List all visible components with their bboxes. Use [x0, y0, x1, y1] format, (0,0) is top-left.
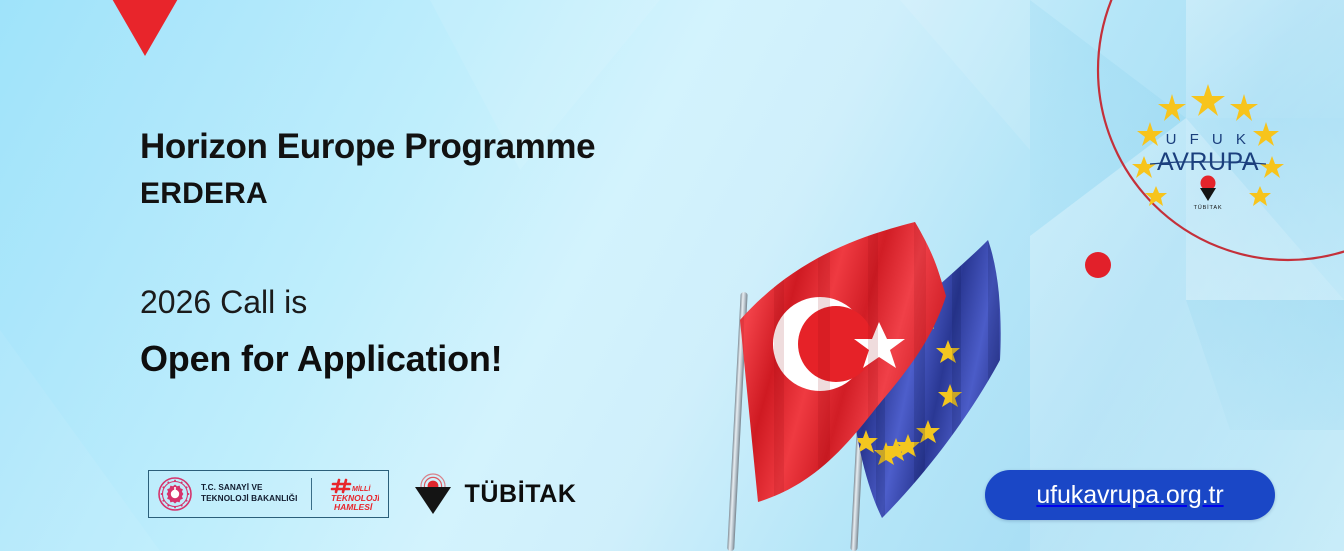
ministry-logo-box: T.C. SANAYİ VE TEKNOLOJİ BAKANLIĞI MİLLİ…: [148, 470, 389, 518]
milli-teknoloji-hamlesi-logo: MİLLİ TEKNOLOJİ HAMLESİ: [329, 476, 379, 512]
tubitak-logo-group: TÜBİTAK: [411, 473, 577, 515]
tubitak-mark-icon: [411, 473, 455, 515]
headline-block: Horizon Europe Programme ERDERA: [140, 126, 760, 213]
page-title: Horizon Europe Programme: [140, 126, 760, 169]
logo-divider: [311, 478, 312, 510]
website-url-label: ufukavrupa.org.tr: [1036, 481, 1223, 510]
ufuk-tubitak-mark-icon: TÜBİTAK: [1194, 176, 1223, 211]
horizon-europe-erdera-banner: Horizon Europe Programme ERDERA 2026 Cal…: [0, 0, 1344, 551]
ministry-label-line1: T.C. SANAYİ VE: [201, 483, 263, 492]
ufuk-wordmark: U F U K: [1166, 131, 1251, 148]
milli-line1: MİLLİ: [352, 485, 371, 493]
red-dot-marker: [1085, 252, 1111, 278]
call-block: 2026 Call is Open for Application!: [140, 283, 760, 381]
footer-logo-row: T.C. SANAYİ VE TEKNOLOJİ BAKANLIĞI MİLLİ…: [148, 470, 577, 518]
ministry-label: T.C. SANAYİ VE TEKNOLOJİ BAKANLIĞI: [201, 483, 298, 505]
call-year-label: 2026 Call is: [140, 283, 760, 321]
milli-line3: HAMLESİ: [334, 502, 373, 512]
project-name: ERDERA: [140, 174, 760, 213]
red-triangle-decoration: [100, 0, 190, 56]
gear-emblem-icon: [158, 477, 192, 511]
website-url-button[interactable]: ufukavrupa.org.tr: [985, 470, 1275, 520]
ufuk-tubitak-label: TÜBİTAK: [1194, 204, 1223, 210]
tubitak-wordmark: TÜBİTAK: [465, 480, 577, 509]
ministry-label-line2: TEKNOLOJİ BAKANLIĞI: [201, 494, 298, 503]
ufuk-avrupa-logo: U F U K AVRUPA TÜBİTAK: [1128, 78, 1288, 210]
call-status-label: Open for Application!: [140, 337, 760, 380]
